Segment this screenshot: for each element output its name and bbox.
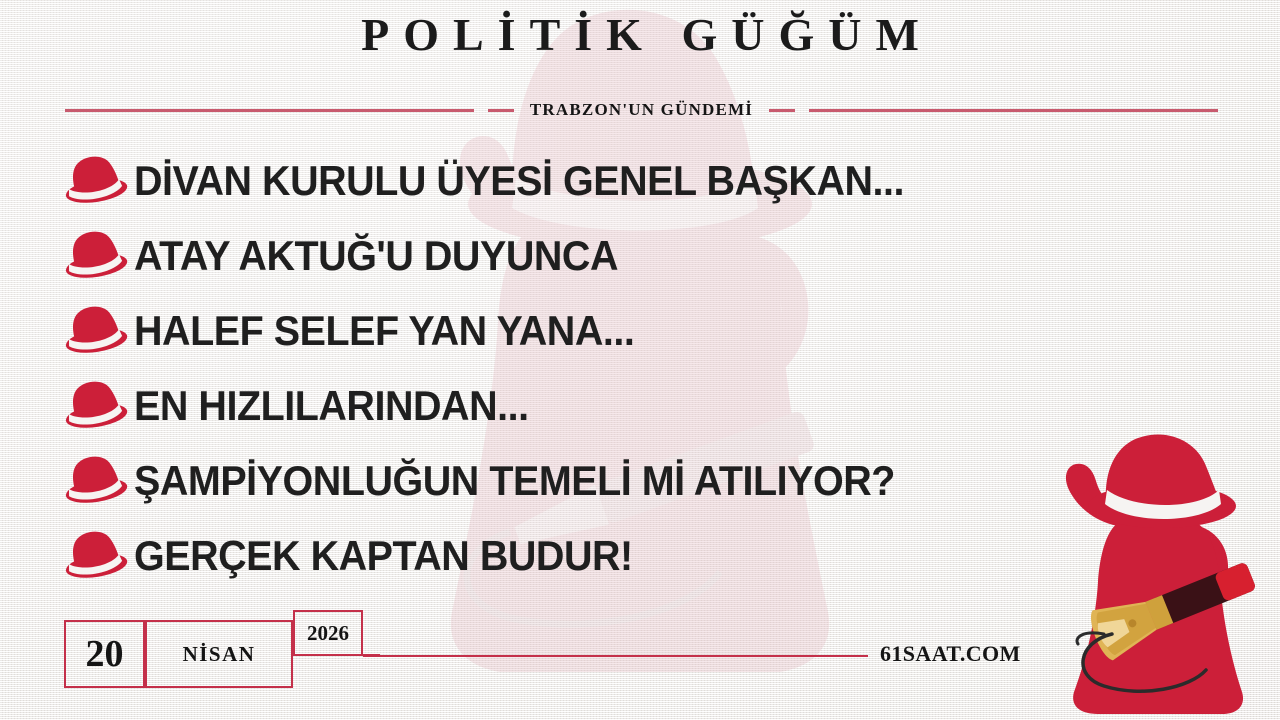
headline-text: DİVAN KURULU ÜYESİ GENEL BAŞKAN... <box>134 160 904 202</box>
masthead: POLİTİK GÜĞÜM <box>0 12 1280 58</box>
subtitle-row: TRABZON'UN GÜNDEMİ <box>65 99 1218 121</box>
top-hat-icon <box>62 155 128 207</box>
subtitle-dash-left <box>488 109 514 112</box>
headline-list: DİVAN KURULU ÜYESİ GENEL BAŞKAN... ATAY … <box>62 143 1062 593</box>
headline-item[interactable]: ATAY AKTUĞ'U DUYUNCA <box>62 218 1062 293</box>
subtitle-rule-right <box>809 109 1218 112</box>
footer-rule-line <box>363 655 868 657</box>
subtitle-dash-right <box>769 109 795 112</box>
subtitle-text: TRABZON'UN GÜNDEMİ <box>514 100 769 120</box>
kettle-with-tophat-and-pen-icon <box>1038 434 1274 720</box>
top-hat-icon <box>62 455 128 507</box>
top-hat-icon <box>62 305 128 357</box>
top-hat-icon <box>62 230 128 282</box>
date-year: 2026 <box>293 610 363 656</box>
top-hat-icon <box>62 380 128 432</box>
headline-text: ŞAMPİYONLUĞUN TEMELİ Mİ ATILIYOR? <box>134 460 895 502</box>
headline-text: GERÇEK KAPTAN BUDUR! <box>134 535 633 577</box>
headline-text: EN HIZLILARINDAN... <box>134 385 529 427</box>
headline-item[interactable]: DİVAN KURULU ÜYESİ GENEL BAŞKAN... <box>62 143 1062 218</box>
headline-item[interactable]: GERÇEK KAPTAN BUDUR! <box>62 518 1062 593</box>
date-month: NİSAN <box>145 620 293 688</box>
site-url[interactable]: 61SAAT.COM <box>880 641 1021 667</box>
headline-text: ATAY AKTUĞ'U DUYUNCA <box>134 235 618 277</box>
headline-item[interactable]: HALEF SELEF YAN YANA... <box>62 293 1062 368</box>
top-hat-icon <box>62 530 128 582</box>
page-title: POLİTİK GÜĞÜM <box>0 12 1280 58</box>
headline-item[interactable]: ŞAMPİYONLUĞUN TEMELİ Mİ ATILIYOR? <box>62 443 1062 518</box>
politik-gugum-poster: POLİTİK GÜĞÜM TRABZON'UN GÜNDEMİ DİVAN K… <box>0 0 1280 720</box>
date-day: 20 <box>64 620 145 688</box>
headline-text: HALEF SELEF YAN YANA... <box>134 310 634 352</box>
headline-item[interactable]: EN HIZLILARINDAN... <box>62 368 1062 443</box>
subtitle-rule-left <box>65 109 474 112</box>
